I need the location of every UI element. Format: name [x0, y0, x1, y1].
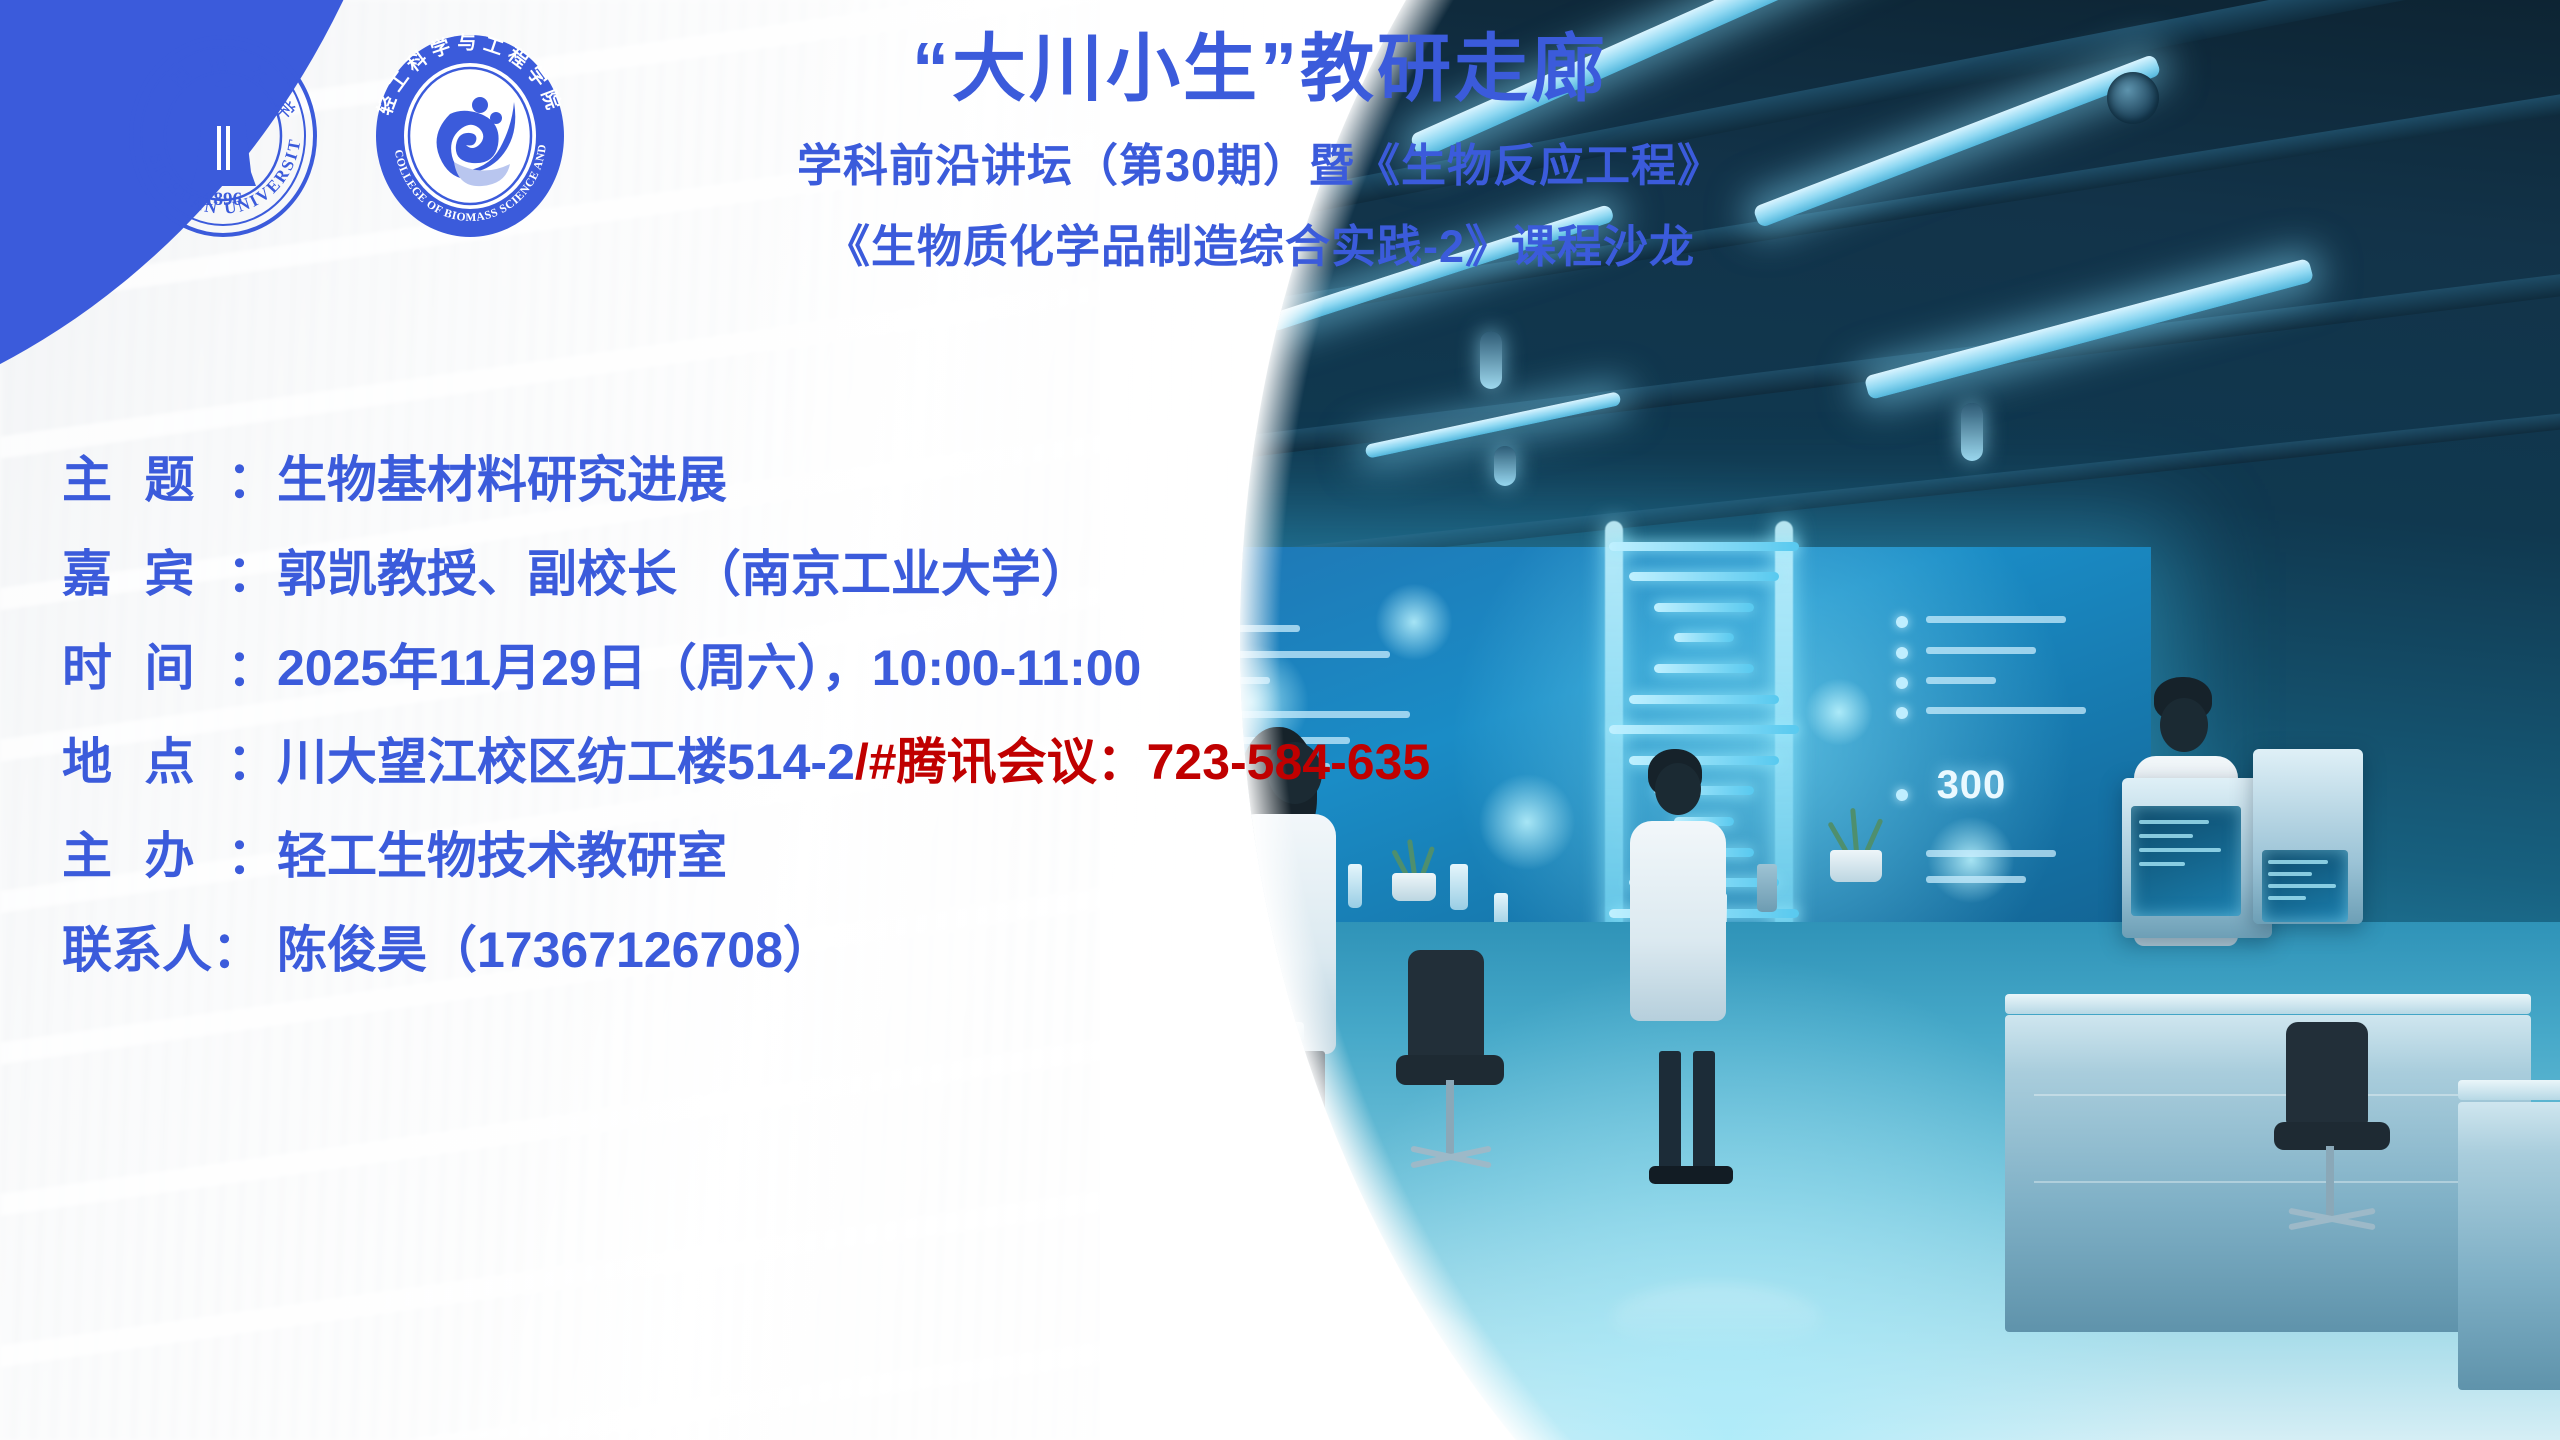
screen-bokeh [1804, 677, 1874, 747]
online-meeting-id: /#腾讯会议：723-584-635 [855, 734, 1430, 790]
screen-metric-value: 300 [1937, 763, 2007, 808]
detail-value-contact: 陈俊昊（17367126708） [277, 910, 833, 982]
heading-group: “大川小生”教研走廊 学科前沿讲坛（第30期）暨《生物反应工程》 《生物质化学品… [600, 28, 1920, 275]
detail-row-contact: 联系人 ： 陈俊昊（17367126708） [62, 910, 1430, 982]
detail-value-guest: 郭凯教授、副校长 （南京工业大学） [277, 534, 1091, 606]
sample-container [1757, 864, 1777, 912]
biomass-college-seal-icon: 轻工科学与工程学院 COLLEGE OF BIOMASS SCIENCE AND… [364, 30, 576, 242]
instrument-display [2131, 806, 2241, 916]
sichuan-university-seal-icon: 1896 SICHUAN UNIVERSITY 四 川 大 学 [118, 31, 328, 241]
screen-bokeh [1477, 772, 1577, 872]
detail-row-time: 时 间 ： 2025年11月29日（周六），10:00-11:00 [62, 628, 1430, 700]
event-details: 主 题 ： 生物基材料研究进展 嘉 宾 ： 郭凯教授、副校长 （南京工业大学） … [62, 440, 1430, 1004]
detail-row-topic: 主 题 ： 生物基材料研究进展 [62, 440, 1430, 512]
svg-text:学: 学 [269, 94, 299, 124]
ceiling-vent [2107, 72, 2159, 124]
potted-plant [1830, 806, 1882, 882]
far-desk-cabinet [2458, 1102, 2560, 1390]
subtitle-line-2: 《生物质化学品制造综合实践-2》课程沙龙 [600, 210, 1920, 275]
reagent-bottle [1450, 864, 1468, 910]
analyzer-display [2262, 850, 2348, 922]
detail-value-time: 2025年11月29日（周六），10:00-11:00 [277, 628, 1141, 700]
desk-top [2005, 994, 2531, 1014]
location-venue: 川大望江校区纺工楼514-2 [277, 734, 855, 790]
detail-label-guest: 嘉 宾 ： [62, 534, 277, 606]
detail-value-location: 川大望江校区纺工楼514-2/#腾讯会议：723-584-635 [277, 722, 1430, 794]
detail-row-location: 地 点 ： 川大望江校区纺工楼514-2/#腾讯会议：723-584-635 [62, 722, 1430, 794]
office-chair [2268, 1022, 2398, 1272]
page-title: “大川小生”教研走廊 [600, 28, 1920, 111]
detail-row-organizer: 主 办 ： 轻工生物技术教研室 [62, 816, 1430, 888]
event-poster: 300 [0, 0, 2560, 1440]
detail-value-topic: 生物基材料研究进展 [277, 440, 727, 512]
subtitle-line-1: 学科前沿讲坛（第30期）暨《生物反应工程》 [600, 129, 1920, 194]
detail-row-guest: 嘉 宾 ： 郭凯教授、副校长 （南京工业大学） [62, 534, 1430, 606]
detail-label-contact: 联系人 ： [62, 910, 277, 982]
screen-bokeh [1926, 815, 2016, 905]
detail-label-organizer: 主 办 ： [62, 816, 277, 888]
ceiling-spotlight [1961, 403, 1983, 461]
detail-label-location: 地 点 ： [62, 722, 277, 794]
logo-group: 1896 SICHUAN UNIVERSITY 四 川 大 学 [118, 30, 576, 242]
svg-text:川: 川 [206, 54, 231, 80]
svg-text:大: 大 [245, 62, 271, 90]
ceiling-spotlight [1494, 446, 1516, 486]
ceiling-spotlight [1480, 331, 1502, 389]
far-desk-top [2458, 1080, 2560, 1100]
detail-label-topic: 主 题 ： [62, 440, 277, 512]
detail-value-organizer: 轻工生物技术教研室 [277, 816, 727, 888]
detail-label-time: 时 间 ： [62, 628, 277, 700]
